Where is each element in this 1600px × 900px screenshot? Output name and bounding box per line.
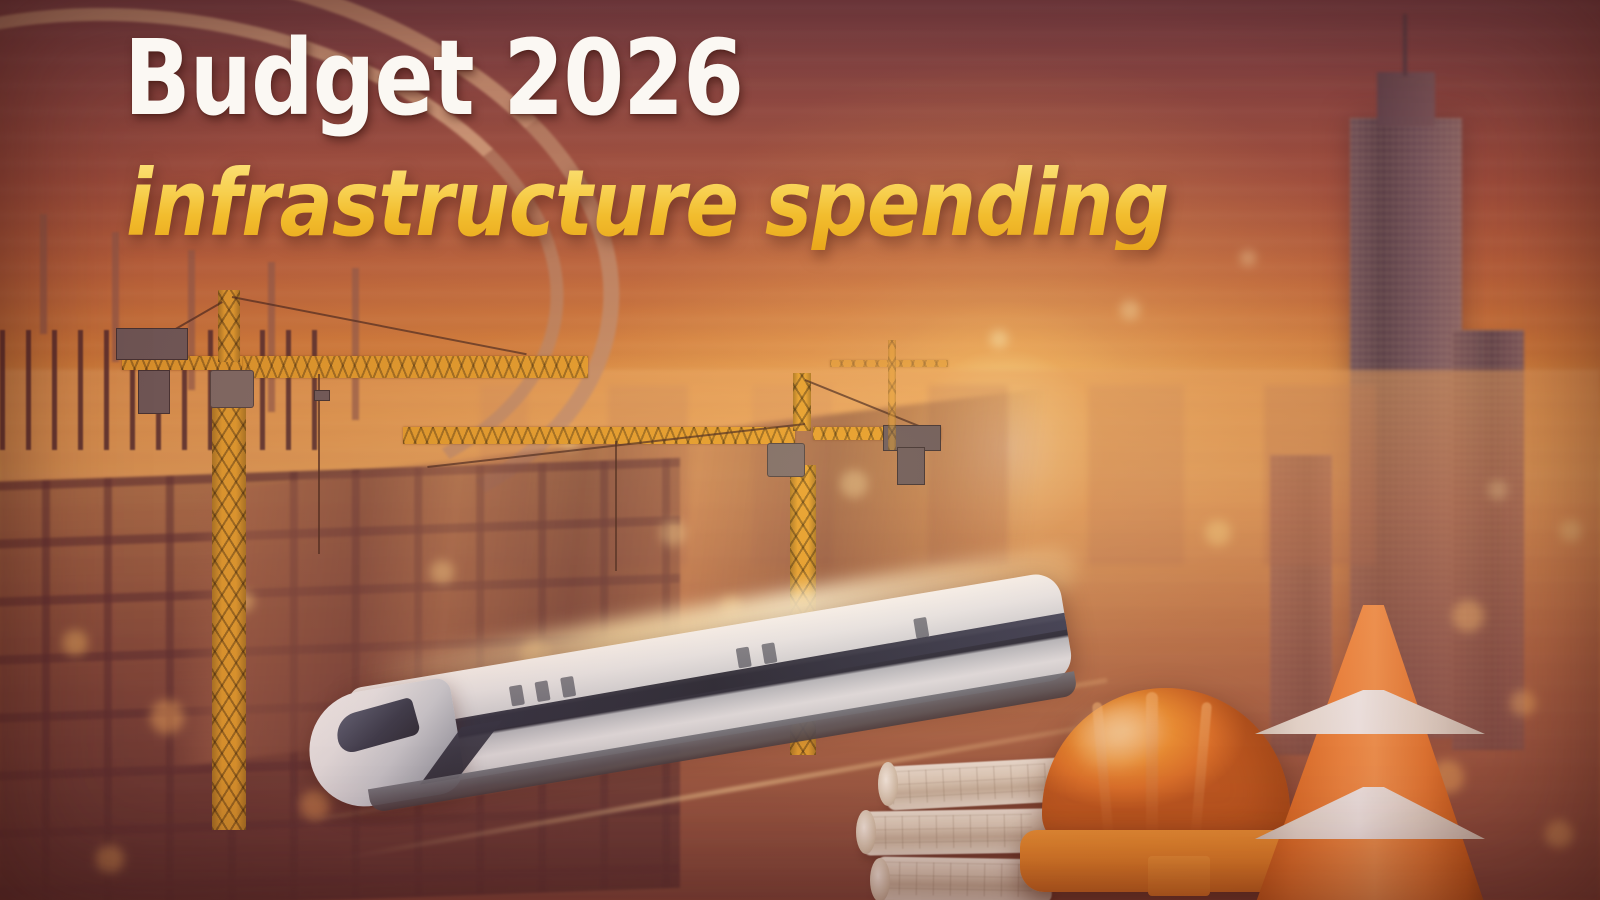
crane-mast bbox=[888, 340, 896, 450]
crane-counterweight bbox=[138, 370, 170, 414]
traffic-cone-body bbox=[1255, 605, 1485, 900]
page-subtitle: infrastructure spending bbox=[126, 158, 1168, 250]
crane-tie-bar-front bbox=[232, 296, 527, 355]
tower-crane-distant bbox=[830, 340, 970, 460]
page-title: Budget 2026 bbox=[124, 26, 743, 130]
traffic-cone bbox=[1255, 605, 1485, 900]
crane-hoist-line bbox=[318, 374, 320, 554]
blueprint-roll-end bbox=[856, 810, 876, 854]
blueprint-roll-end bbox=[870, 858, 890, 900]
crane-hoist-line bbox=[615, 441, 617, 571]
crane-mast bbox=[212, 390, 246, 830]
crane-operator-cabin bbox=[210, 370, 254, 408]
crane-jib bbox=[403, 427, 795, 444]
budget-infrastructure-banner: Budget 2026 infrastructure spending bbox=[0, 0, 1600, 900]
crane-operator-cabin bbox=[767, 443, 805, 477]
traffic-cone-band bbox=[1255, 690, 1485, 734]
crane-hook-block bbox=[314, 390, 330, 401]
blueprint-roll-end bbox=[878, 762, 898, 806]
hard-hat-clip bbox=[1148, 856, 1210, 896]
crane-counterweight bbox=[116, 328, 188, 360]
